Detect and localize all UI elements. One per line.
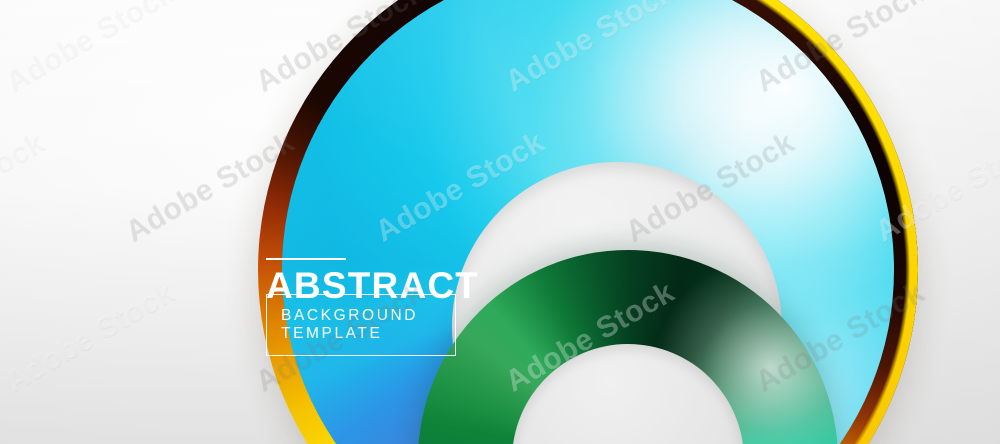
headline-rule [266, 258, 346, 260]
artwork-canvas: ABSTRACT BACKGROUND TEMPLATE Adobe Stock… [0, 0, 1000, 444]
headline-block: ABSTRACT BACKGROUND TEMPLATE [266, 258, 462, 356]
subtitle-line-2: TEMPLATE [281, 325, 441, 344]
abstract-circles-artwork [0, 0, 1000, 444]
subtitle-line-1: BACKGROUND [281, 307, 441, 326]
page-title: ABSTRACT [266, 268, 462, 304]
